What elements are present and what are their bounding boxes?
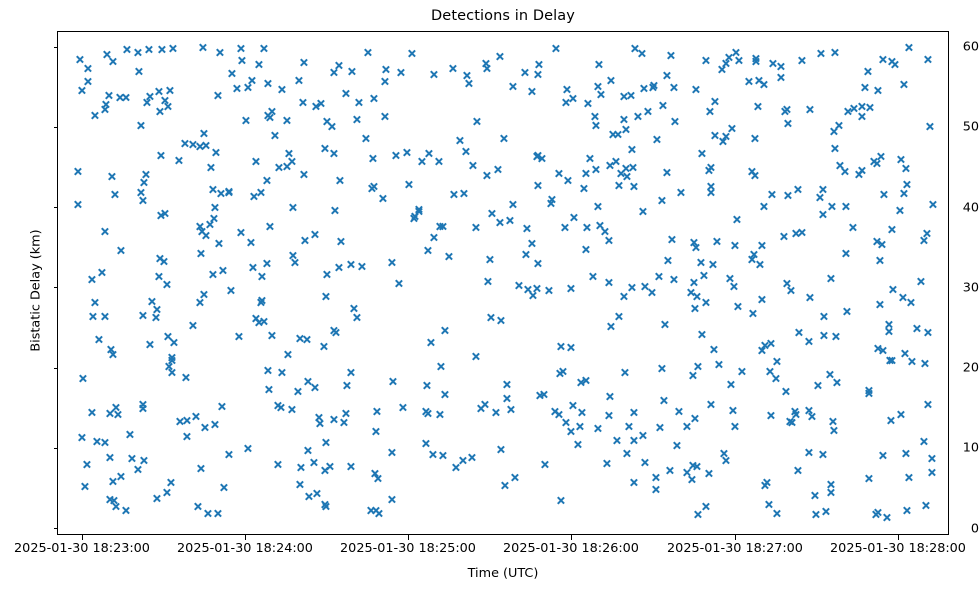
scatter-point [336,237,345,246]
scatter-point [191,412,200,421]
scatter-point [215,48,224,57]
scatter-point [534,259,543,268]
scatter-point [755,260,764,269]
scatter-point [804,406,813,415]
scatter-point [621,125,630,134]
scatter-point [912,324,921,333]
x-tick-mark [82,535,83,540]
scatter-point [273,401,282,410]
scatter-point [370,469,379,478]
scatter-point [922,229,931,238]
scatter-point [182,416,191,425]
scatter-point [506,405,515,414]
scatter-point [102,50,111,59]
scatter-point [236,44,245,53]
scatter-point [127,454,136,463]
scatter-point [417,157,426,166]
scatter-point [133,48,142,57]
scatter-point [581,245,590,254]
scatter-point [872,237,881,246]
scatter-point [927,468,936,477]
scatter-point [196,249,205,258]
scatter-point [873,86,882,95]
scatter-point [672,441,681,450]
scatter-point [591,121,600,130]
scatter-series-detections [58,32,948,534]
scatter-point [514,281,523,290]
scatter-point [275,163,284,172]
scatter-point [779,232,788,241]
scatter-point [873,344,882,353]
scatter-point [887,57,896,66]
scatter-point [289,251,298,260]
scatter-point [97,268,106,277]
scatter-point [605,236,614,245]
scatter-point [792,229,801,238]
scatter-point [139,196,148,205]
scatter-point [647,288,656,297]
scatter-point [316,99,325,108]
scatter-point [136,188,145,197]
scatter-point [180,139,189,148]
scatter-point [429,233,438,242]
scatter-point [369,94,378,103]
scatter-point [348,67,357,76]
x-tick-mark [571,535,572,540]
scatter-point [786,286,795,295]
scatter-point [926,122,935,131]
scatter-point [863,67,872,76]
scatter-point [176,417,185,426]
scatter-point [299,170,308,179]
scatter-point [423,409,432,418]
scatter-point [651,473,660,482]
scatter-point [829,127,838,136]
scatter-point [813,381,822,390]
scatter-point [84,77,93,86]
scatter-point [208,270,217,279]
scatter-point [765,367,774,376]
scatter-point [201,423,210,432]
scatter-point [459,189,468,198]
scatter-point [751,57,760,66]
scatter-point [388,495,397,504]
scatter-point [211,148,220,157]
scatter-point [649,81,658,90]
scatter-point [375,509,384,518]
scatter-point [660,320,669,329]
scatter-point [405,180,414,189]
x-tick-mark [408,535,409,540]
scatter-point [265,222,274,231]
scatter-point [523,285,532,294]
scatter-point [639,84,648,93]
scatter-point [394,279,403,288]
scatter-point [819,312,828,321]
scatter-point [689,278,698,287]
scatter-point [568,94,577,103]
scatter-point [818,185,827,194]
scatter-point [213,91,222,100]
scatter-point [797,228,806,237]
scatter-point [786,417,795,426]
scatter-point [133,465,142,474]
scatter-point [726,274,735,283]
scatter-point [887,356,896,365]
x-tick-label: 2025-01-30 18:24:00 [177,541,313,556]
scatter-point [342,89,351,98]
scatter-point [537,154,546,163]
scatter-point [208,185,217,194]
scatter-point [264,385,273,394]
scatter-point [857,102,866,111]
scatter-point [828,417,837,426]
scatter-point [691,85,700,94]
scatter-point [82,460,91,469]
scatter-point [139,456,148,465]
scatter-point [737,367,746,376]
scatter-point [648,83,657,92]
scatter-point [501,481,510,490]
scatter-point [321,502,330,511]
scatter-point [422,381,431,390]
scatter-point [663,71,672,80]
x-tick-mark [245,535,246,540]
scatter-point [700,271,709,280]
scatter-point [199,129,208,138]
scatter-point [277,368,286,377]
scatter-point [483,277,492,286]
scatter-point [606,392,615,401]
scatter-point [210,420,219,429]
scatter-point [550,407,559,416]
scatter-point [108,57,117,66]
scatter-point [141,170,150,179]
scatter-point [676,188,685,197]
scatter-point [794,328,803,337]
scatter-point [166,478,175,487]
scatter-point [704,469,713,478]
scatter-point [372,427,381,436]
scatter-point [683,422,692,431]
scatter-point [729,282,738,291]
scatter-point [718,137,727,146]
scatter-point [157,45,166,54]
scatter-point [138,311,147,320]
scatter-point [434,157,443,166]
scatter-point [750,171,759,180]
scatter-point [502,394,511,403]
scatter-point [707,182,716,191]
scatter-point [430,70,439,79]
scatter-point [547,195,556,204]
scatter-point [600,227,609,236]
scatter-point [139,178,148,187]
scatter-point [264,111,273,120]
scatter-point [407,49,416,58]
scatter-point [707,163,716,172]
scatter-point [638,207,647,216]
scatter-point [115,93,124,102]
scatter-point [218,402,227,411]
scatter-point [105,409,114,418]
scatter-point [321,500,330,509]
scatter-point [486,255,495,264]
scatter-point [744,77,753,86]
scatter-point [623,172,632,181]
scatter-point [276,403,285,412]
scatter-point [793,466,802,475]
scatter-point [773,509,782,518]
scatter-point [924,55,933,64]
scatter-point [157,211,166,220]
scatter-point [254,318,263,327]
scatter-point [614,181,623,190]
scatter-point [865,103,874,112]
scatter-point [487,209,496,218]
scatter-point [201,231,210,240]
scatter-point [664,256,673,265]
scatter-point [322,270,331,279]
scatter-point [613,130,622,139]
scatter-point [74,200,83,209]
scatter-point [919,437,928,446]
scatter-point [682,468,691,477]
scatter-point [797,56,806,65]
x-tick-label: 2025-01-30 18:23:00 [14,541,150,556]
scatter-point [840,167,849,176]
scatter-point [472,352,481,361]
scatter-point [257,272,266,281]
scatter-point [305,492,314,501]
scatter-point [372,506,381,515]
scatter-point [827,202,836,211]
scatter-point [578,408,587,417]
scatter-point [282,116,291,125]
scatter-point [568,401,577,410]
scatter-point [265,113,274,122]
scatter-point [88,408,97,417]
scatter-point [693,510,702,519]
scatter-point [805,448,814,457]
scatter-point [456,136,465,145]
scatter-point [733,302,742,311]
scatter-point [579,184,588,193]
scatter-point [712,237,721,246]
scatter-point [527,87,536,96]
scatter-point [236,228,245,237]
scatter-point [697,149,706,158]
scatter-point [895,206,904,215]
scatter-point [152,305,161,314]
scatter-point [299,58,308,67]
x-tick-label: 2025-01-30 18:28:00 [830,541,966,556]
scatter-point [113,410,122,419]
scatter-point [534,70,543,79]
scatter-point [445,252,454,261]
scatter-point [165,86,174,95]
scatter-point [629,478,638,487]
scatter-point [581,169,590,178]
scatter-point [546,199,555,208]
scatter-point [899,189,908,198]
scatter-point [438,222,447,231]
scatter-point [143,98,152,107]
scatter-point [210,203,219,212]
scatter-point [583,99,592,108]
scatter-point [570,213,579,222]
scatter-point [819,331,828,340]
x-tick-mark [735,535,736,540]
scatter-point [101,100,110,109]
scatter-point [336,176,345,185]
scatter-point [334,61,343,70]
scatter-point [203,509,212,518]
scatter-point [496,445,505,454]
scatter-point [882,513,891,522]
scatter-point [100,438,109,447]
scatter-point [381,112,390,121]
scatter-point [760,80,769,89]
scatter-point [361,134,370,143]
scatter-point [495,52,504,61]
scatter-point [710,97,719,106]
scatter-point [449,64,458,73]
scatter-point [378,194,387,203]
scatter-point [582,223,591,232]
scatter-point [693,362,702,371]
scatter-point [781,107,790,116]
scatter-point [369,182,378,191]
scatter-point [382,65,391,74]
scatter-point [284,350,293,359]
scatter-point [566,427,575,436]
scatter-point [727,124,736,133]
scatter-point [656,423,665,432]
scatter-point [554,169,563,178]
scatter-point [898,293,907,302]
scatter-point [414,207,423,216]
scatter-point [168,44,177,53]
scatter-point [294,76,303,85]
scatter-point [467,453,476,462]
scatter-point [121,506,130,515]
scatter-point [95,335,104,344]
scatter-point [832,378,841,387]
scatter-point [818,450,827,459]
scatter-point [506,216,515,225]
x-tick-label: 2025-01-30 18:26:00 [503,541,639,556]
scatter-point [540,460,549,469]
scatter-point [888,285,897,294]
scatter-point [701,502,710,511]
x-tick-mark [898,535,899,540]
scatter-point [782,279,791,288]
scatter-point [923,328,932,337]
scatter-point [251,314,260,323]
scatter-point [929,200,938,209]
scatter-point [75,55,84,64]
scatter-point [366,506,375,515]
scatter-point [704,166,713,175]
scatter-point [423,246,432,255]
scatter-point [481,400,490,409]
scatter-point [138,400,147,409]
scatter-point [300,236,309,245]
scatter-point [826,274,835,283]
scatter-point [262,259,271,268]
scatter-point [320,144,329,153]
scatter-point [161,209,170,218]
scatter-point [88,275,97,284]
scatter-point [391,151,400,160]
scatter-point [491,408,500,417]
scatter-point [134,67,143,76]
scatter-point [421,439,430,448]
scatter-point [535,391,544,400]
scatter-point [768,190,777,199]
scatter-point [353,313,362,322]
scatter-point [329,149,338,158]
scatter-point [256,188,265,197]
scatter-point [651,485,660,494]
scatter-point [494,165,503,174]
scatter-point [214,239,223,248]
scatter-point [181,373,190,382]
scatter-point [612,436,621,445]
scatter-point [521,250,530,259]
scatter-point [213,509,222,518]
scatter-point [387,258,396,267]
scatter-point [691,243,700,252]
scatter-point [310,383,319,392]
scatter-point [668,235,677,244]
scatter-point [437,362,446,371]
scatter-point [322,117,331,126]
scatter-point [616,169,625,178]
scatter-point [264,366,273,375]
scatter-point [858,166,867,175]
scatter-point [902,506,911,515]
scatter-point [496,316,505,325]
scatter-point [486,313,495,322]
scatter-point [217,189,226,198]
scatter-point [573,440,582,449]
scatter-point [905,473,914,482]
scatter-point [251,157,260,166]
x-tick-label: 2025-01-30 18:27:00 [667,541,803,556]
scatter-point [901,164,910,173]
scatter-point [108,350,117,359]
scatter-point [110,190,119,199]
scatter-point [225,188,234,197]
scatter-point [877,152,886,161]
scatter-point [246,238,255,247]
scatter-point [887,416,896,425]
scatter-point [690,304,699,313]
scatter-point [89,312,98,321]
scatter-point [438,451,447,460]
scatter-point [277,85,286,94]
scatter-point [138,404,147,413]
scatter-point [666,466,675,475]
scatter-point [615,312,624,321]
scatter-point [563,85,572,94]
scatter-point [309,458,318,467]
scatter-point [637,49,646,58]
scatter-point [259,317,268,326]
scatter-point [108,477,117,486]
